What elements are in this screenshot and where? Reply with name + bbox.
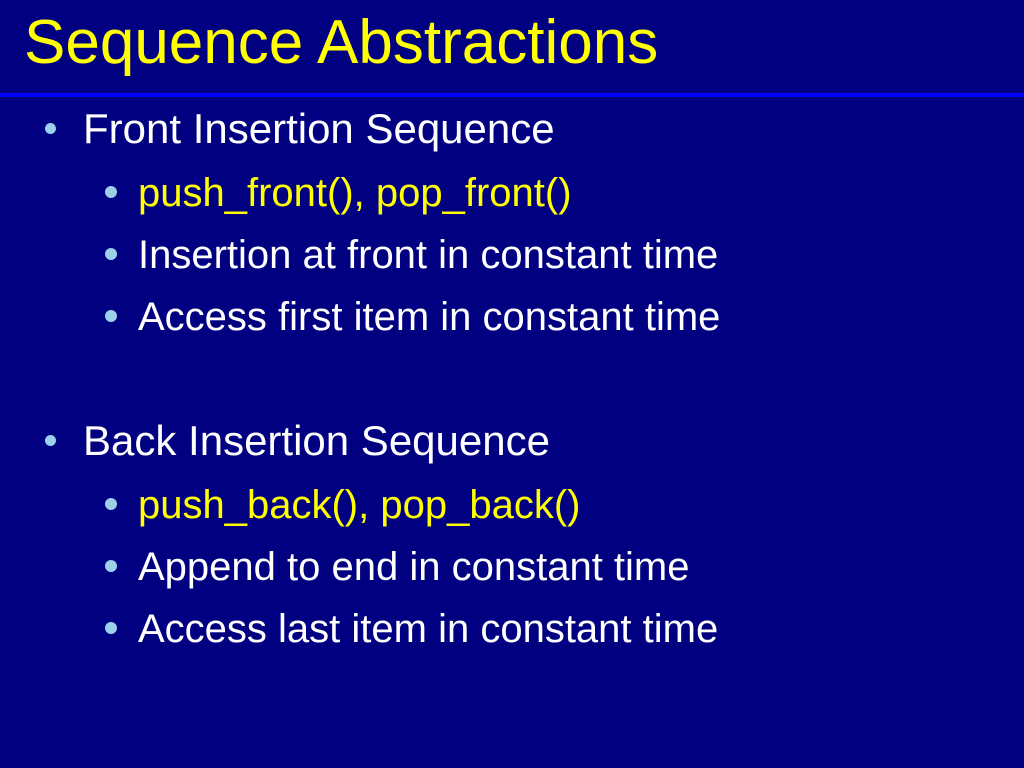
bullet-block-front-insertion: Front Insertion Sequence push_front(), p… — [0, 100, 1024, 348]
list-item: push_back(), pop_back() — [0, 474, 1024, 536]
bullet-level1-label: Front Insertion Sequence — [83, 100, 555, 158]
list-item: Access last item in constant time — [0, 598, 1024, 660]
bullet-level2-label: Access first item in constant time — [138, 286, 720, 348]
bullet-dot-icon — [105, 560, 117, 572]
bullet-block-back-insertion: Back Insertion Sequence push_back(), pop… — [0, 412, 1024, 660]
list-item: Back Insertion Sequence — [0, 412, 1024, 474]
bullet-dot-icon — [105, 310, 117, 322]
bullet-level2-label: Append to end in constant time — [138, 536, 689, 598]
bullet-dot-icon — [45, 435, 56, 446]
bullet-dot-icon — [105, 622, 117, 634]
list-item: push_front(), pop_front() — [0, 162, 1024, 224]
bullet-dot-icon — [105, 498, 117, 510]
bullet-level2-label: push_front(), pop_front() — [138, 162, 572, 224]
presentation-slide: Sequence Abstractions Front Insertion Se… — [0, 0, 1024, 768]
bullet-dot-icon — [105, 186, 117, 198]
page-title: Sequence Abstractions — [24, 6, 658, 80]
slide-title-band: Sequence Abstractions — [0, 0, 1024, 93]
bullet-level2-label: Insertion at front in constant time — [138, 224, 718, 286]
title-divider-rule — [0, 93, 1024, 97]
list-item: Front Insertion Sequence — [0, 100, 1024, 162]
bullet-level1-label: Back Insertion Sequence — [83, 412, 550, 470]
bullet-dot-icon — [105, 248, 117, 260]
bullet-dot-icon — [45, 123, 56, 134]
list-item: Access first item in constant time — [0, 286, 1024, 348]
bullet-level2-label: push_back(), pop_back() — [138, 474, 580, 536]
slide-body: Front Insertion Sequence push_front(), p… — [0, 100, 1024, 768]
list-item: Append to end in constant time — [0, 536, 1024, 598]
bullet-level2-label: Access last item in constant time — [138, 598, 718, 660]
list-item: Insertion at front in constant time — [0, 224, 1024, 286]
